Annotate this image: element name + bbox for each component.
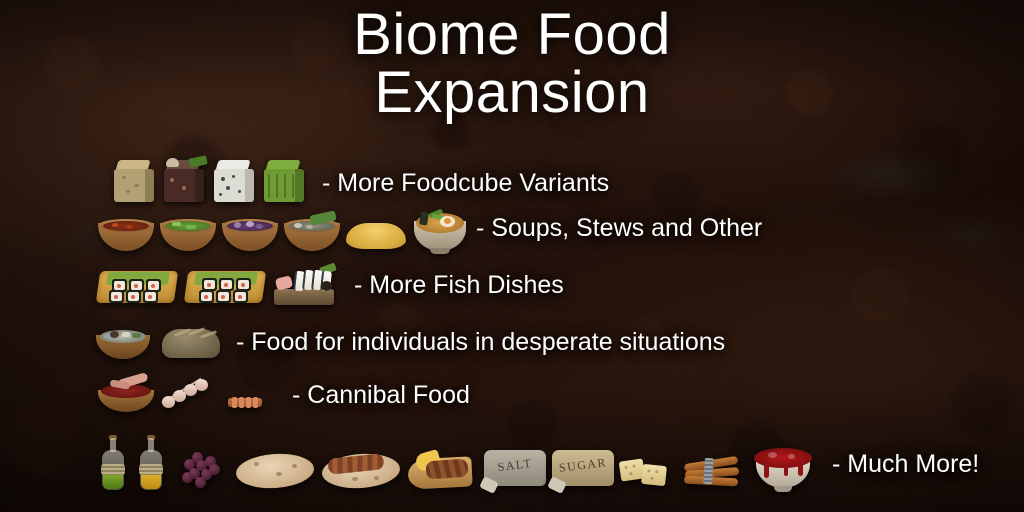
foodcube-tan-icon xyxy=(112,160,154,206)
feature-label-soups: - Soups, Stews and Other xyxy=(476,216,762,241)
sugar-sack-icon: SUGAR xyxy=(552,446,614,490)
salt-sack-icon: SALT xyxy=(484,446,546,490)
title-line-2: Expansion xyxy=(0,64,1024,122)
feature-row-foodcube: - More Foodcube Variants xyxy=(112,160,609,206)
fish-icon-group xyxy=(98,263,338,307)
foodcube-icon-group xyxy=(112,160,312,206)
bowl-green-soup-icon xyxy=(160,211,216,251)
soups-icon-group xyxy=(98,205,472,251)
foodcube-meat-icon xyxy=(162,160,204,206)
oil-bottle-green-icon xyxy=(100,438,126,490)
raw-meat-bowl-icon xyxy=(98,378,154,412)
feature-label-much-more: - Much More! xyxy=(832,452,979,477)
cinnamon-bundle-icon xyxy=(682,454,744,490)
flatbread-meat-icon xyxy=(322,452,400,490)
blood-bowl-icon xyxy=(754,444,812,490)
bowl-greens-stew-icon xyxy=(284,211,340,251)
feature-row-fish: - More Fish Dishes xyxy=(98,263,564,307)
page-title: Biome Food Expansion xyxy=(0,6,1024,122)
biome-food-expansion-banner: Biome Food Expansion xyxy=(0,0,1024,512)
stale-bread-icon xyxy=(162,325,220,359)
bowl-chili-icon xyxy=(98,211,154,251)
feature-label-desperate: - Food for individuals in desperate situ… xyxy=(236,330,725,355)
scrap-bowl-icon xyxy=(96,325,150,359)
stuffed-wrap-icon xyxy=(408,450,472,490)
flesh-skewer-icon xyxy=(160,378,216,412)
desperate-icon-group xyxy=(96,325,224,359)
flatbread-plain-icon xyxy=(236,452,314,490)
grape-cluster-icon xyxy=(176,450,220,490)
oil-bottle-yellow-icon xyxy=(138,438,164,490)
feature-label-fish: - More Fish Dishes xyxy=(354,273,564,298)
sushi-plate-2-icon xyxy=(186,263,264,307)
crackers-icon xyxy=(620,456,674,490)
ramen-bowl-icon xyxy=(412,205,468,251)
foodcube-green-icon xyxy=(262,160,304,206)
sashimi-board-icon xyxy=(274,265,334,307)
feature-row-desperate: - Food for individuals in desperate situ… xyxy=(96,325,725,359)
feature-label-cannibal: - Cannibal Food xyxy=(292,383,470,408)
sushi-plate-1-icon xyxy=(98,263,176,307)
cooked-strip-skewer-icon xyxy=(226,382,268,412)
foodcube-white-icon xyxy=(212,160,254,206)
feature-row-cannibal: - Cannibal Food xyxy=(98,378,470,412)
feature-label-foodcube: - More Foodcube Variants xyxy=(322,171,609,196)
title-line-1: Biome Food xyxy=(0,6,1024,64)
feature-row-soups: - Soups, Stews and Other xyxy=(98,205,762,251)
cannibal-icon-group xyxy=(98,378,274,412)
feature-row-much-more: SALT SUGAR xyxy=(100,438,979,490)
much-more-icon-group: SALT SUGAR xyxy=(100,438,816,490)
rice-pile-icon xyxy=(346,215,406,251)
bowl-berry-stew-icon xyxy=(222,211,278,251)
